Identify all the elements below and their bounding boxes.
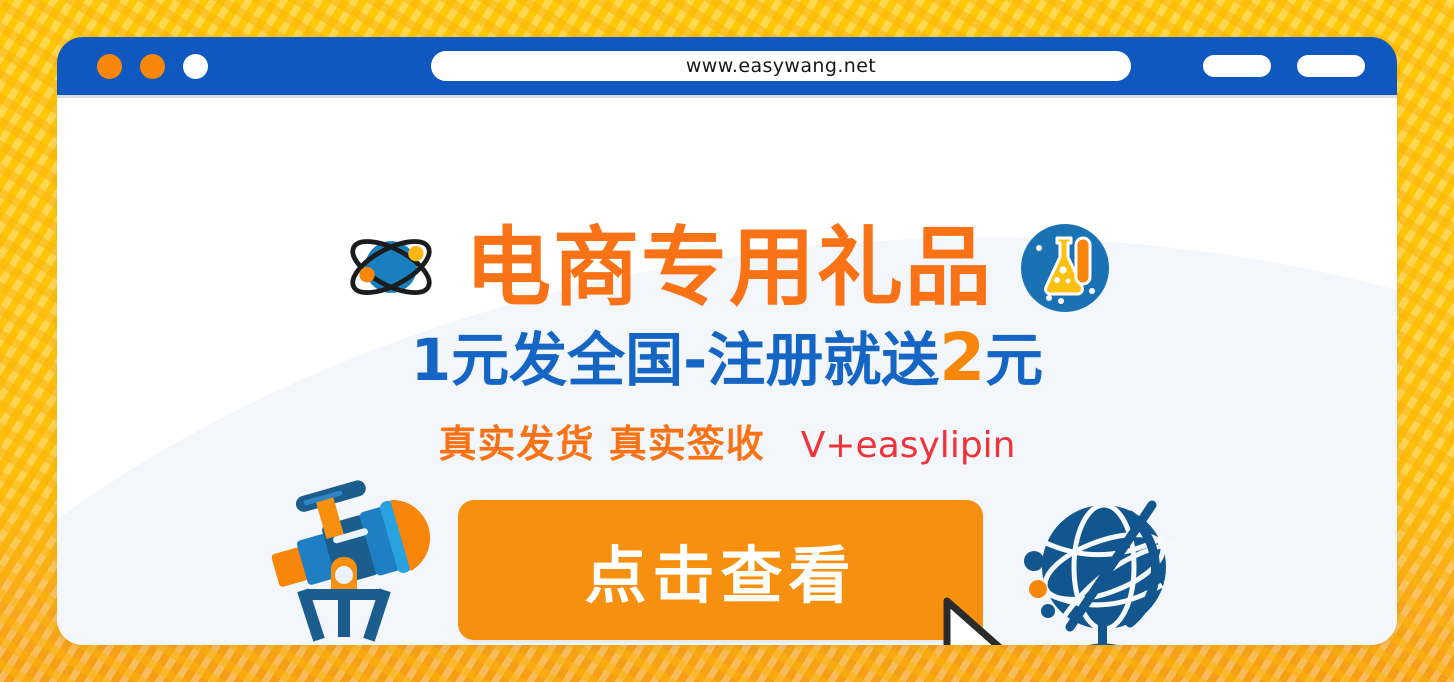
browser-chrome-bar: www.easywang.net [57, 37, 1397, 95]
promo-subline-prefix: 1元发全国-注册就送 [411, 326, 939, 394]
address-bar[interactable]: www.easywang.net [431, 51, 1131, 81]
tagline-row: 真实发货 真实签收 V+easylipin [57, 413, 1397, 468]
window-control-1[interactable] [1203, 55, 1271, 77]
hero-content: 电商专用礼品 1元 [57, 95, 1397, 645]
globe-icon [1012, 485, 1192, 645]
atom-icon [343, 222, 439, 314]
traffic-light-buttons [97, 54, 208, 79]
promo-subline-suffix: 元 [985, 326, 1043, 394]
browser-window-controls [1203, 55, 1365, 77]
traffic-light-orange-2[interactable] [140, 54, 165, 79]
ad-banner: www.easywang.net [0, 0, 1454, 682]
address-bar-url: www.easywang.net [686, 55, 876, 77]
traffic-light-orange-1[interactable] [97, 54, 122, 79]
contact-handle: V+easylipin [801, 425, 1016, 466]
promo-subline: 1元发全国-注册就送2元 [57, 325, 1397, 391]
promo-subline-accent: 2 [939, 319, 985, 396]
traffic-light-white[interactable] [183, 54, 208, 79]
window-control-2[interactable] [1297, 55, 1365, 77]
browser-window-mockup: www.easywang.net [57, 37, 1397, 645]
page-title: 电商专用礼品 [465, 225, 993, 311]
promo-tagline: 真实发货 真实签收 [439, 413, 765, 468]
telescope-icon [253, 463, 433, 643]
flask-icon [1019, 222, 1111, 314]
browser-page-content: 电商专用礼品 1元 [57, 95, 1397, 645]
cta-button[interactable]: 点击查看 [458, 500, 983, 640]
